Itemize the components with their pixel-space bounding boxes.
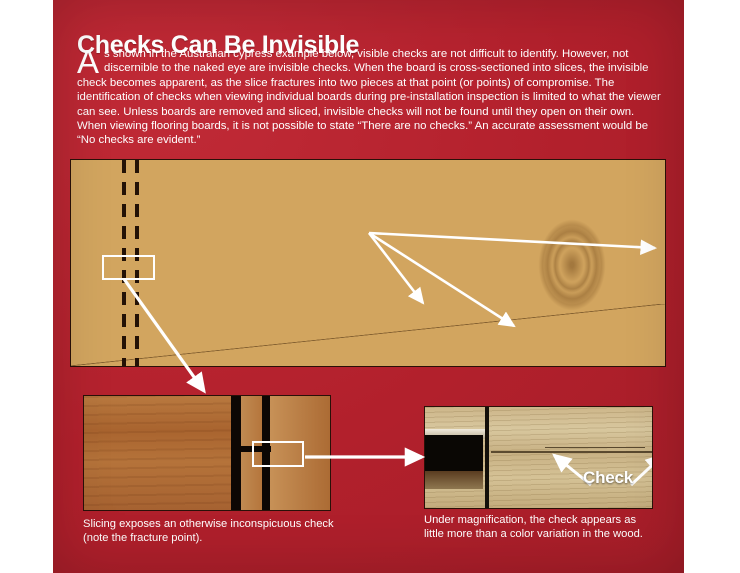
arrow-to-check-lower	[369, 233, 514, 326]
check-label: Check	[583, 468, 633, 488]
article-body-text: s shown in the Australian cypress exampl…	[77, 48, 661, 146]
slice-caption: Slicing exposes an otherwise inconspicuo…	[83, 517, 353, 545]
magnified-caption-line2: little more than a color variation in th…	[424, 527, 684, 541]
main-board-figure	[70, 159, 666, 367]
slice-caption-line1: Slicing exposes an otherwise inconspicuo…	[83, 517, 353, 531]
magnified-caption: Under magnification, the check appears a…	[424, 513, 684, 541]
page-root: Checks Can Be Invisible As shown in the …	[0, 0, 740, 573]
arrow-to-check-middle	[369, 233, 423, 303]
slice-caption-line2: (note the fracture point).	[83, 531, 353, 545]
magnified-figure: Check	[424, 406, 653, 509]
article-panel: Checks Can Be Invisible As shown in the …	[53, 0, 684, 573]
slice-figure	[83, 395, 331, 511]
fracture-gap-left	[231, 396, 241, 510]
article-body: As shown in the Australian cypress examp…	[77, 47, 662, 148]
drop-cap: A	[77, 48, 104, 75]
magnified-figure-arrows	[425, 407, 653, 509]
arrow-check-right	[631, 455, 653, 485]
arrow-to-check-right	[369, 233, 655, 248]
highlight-box-slice	[252, 441, 304, 467]
main-figure-arrows	[71, 160, 666, 367]
magnified-caption-line1: Under magnification, the check appears a…	[424, 513, 684, 527]
